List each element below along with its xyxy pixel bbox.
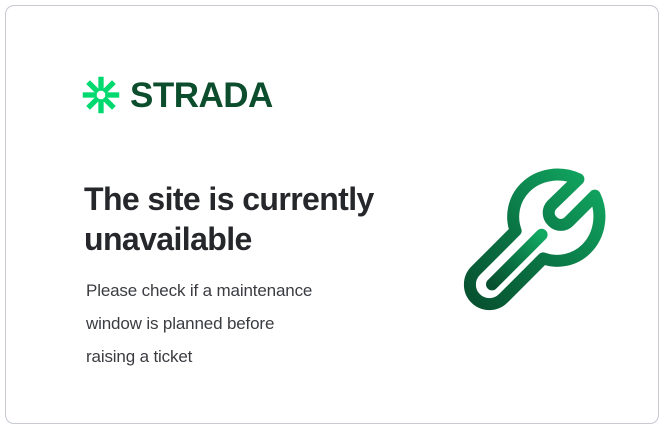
- status-card: STRADA The site is currently unavailable…: [5, 5, 659, 424]
- wrench-icon: [458, 158, 618, 318]
- page-title: The site is currently unavailable: [84, 179, 414, 259]
- description-line: Please check if a maintenance: [86, 274, 406, 307]
- brand-lockup: STRADA: [82, 76, 273, 114]
- page-root: STRADA The site is currently unavailable…: [0, 0, 666, 436]
- description-line: raising a ticket: [86, 340, 406, 373]
- description-line: window is planned before: [86, 307, 406, 340]
- brand-wordmark: STRADA: [130, 78, 273, 113]
- status-description: Please check if a maintenance window is …: [86, 274, 406, 373]
- strada-asterisk-icon: [82, 76, 120, 114]
